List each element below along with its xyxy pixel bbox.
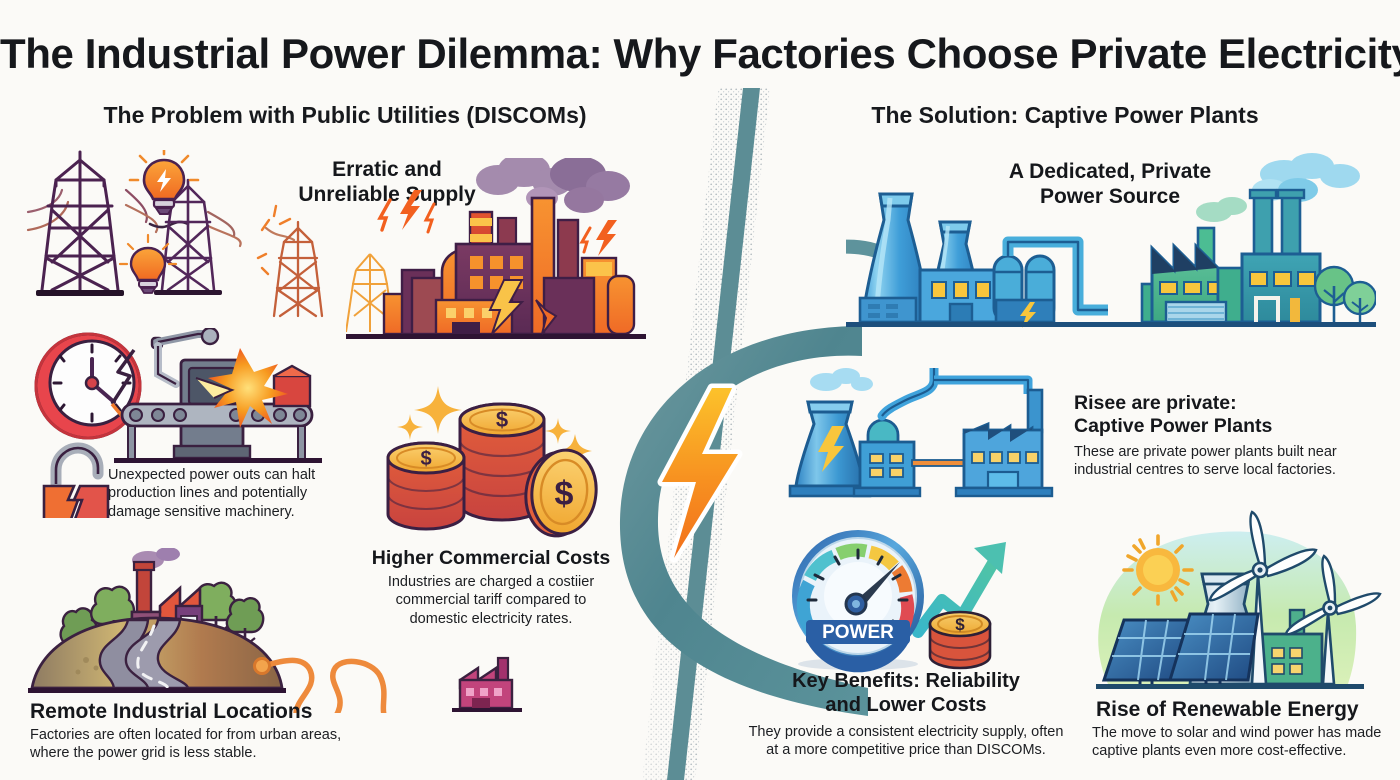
page-title: The Industrial Power Dilemma: Why Factor… [0,30,1400,78]
coin-stack-icon: $ [388,443,464,529]
captive-plants-title-line2: Captive Power Plants [1074,415,1272,437]
tree-icon [1344,282,1376,322]
gauge-label: POWER [822,622,894,643]
captive-plants-title-line1: Risee are private: [1074,392,1237,414]
key-benefits-title: Key Benefits: Reliability and Lower Cost… [748,670,1064,717]
svg-text:$: $ [496,407,508,432]
renewable-body: The move to solar and wind power has mad… [1092,724,1398,761]
dedicated-source-title-line1: A Dedicated, Private [1009,160,1211,183]
captive-plant-illustration [782,368,1072,509]
clean-factory-icon [956,390,1052,496]
dedicated-source-title-line2: Power Source [1040,185,1180,208]
coin-stack-icon: $ [930,612,990,668]
clean-factory-icon [1142,228,1252,322]
cable-plug-icon [255,659,270,674]
key-benefits-body: They provide a consistent electricity su… [742,723,1070,760]
power-gauge-illustration: POWER $ [790,528,1040,678]
svg-text:$: $ [420,448,431,470]
smoke-cloud-icon [810,368,873,391]
right-column-header: The Solution: Captive Power Plants [760,102,1370,129]
captive-plants-body: These are private power plants built nea… [1074,443,1374,480]
broken-lock-icon [44,448,108,518]
svg-text:$: $ [555,475,574,513]
reactor-icon [854,420,920,496]
lightning-bolt-icon [662,388,738,558]
dedicated-source-title: A Dedicated, Private Power Source [960,160,1260,210]
power-gauge-icon: POWER [792,530,924,672]
svg-text:$: $ [955,615,965,634]
outages-body: Unexpected power outs can halt productio… [108,466,333,521]
infographic-canvas: { "title": "The Industrial Power Dilemma… [0,0,1400,780]
remote-factory-icon [452,658,522,712]
remote-locations-title: Remote Industrial Locations [30,700,390,725]
cooling-tower-icon [790,402,870,496]
divider-bar-icon [667,88,760,780]
coin-stack-illustration: $ $ $ [382,372,607,553]
renewable-title: Rise of Renewable Energy [1096,698,1396,723]
left-column-header: The Problem with Public Utilities (DISCO… [40,102,650,129]
remote-locations-body: Factories are often located for from urb… [30,726,360,763]
remote-location-illustration [28,548,588,718]
polluting-factory-illustration [346,158,646,355]
key-benefits-title-line1: Key Benefits: Reliability [792,670,1020,692]
clean-factory-icon [1242,190,1320,322]
renewable-energy-illustration [1062,508,1400,695]
light-bulb-icon [120,235,176,293]
captive-plants-title: Risee are private: Captive Power Plants [1074,392,1374,438]
key-benefits-title-line2: and Lower Costs [825,694,986,716]
